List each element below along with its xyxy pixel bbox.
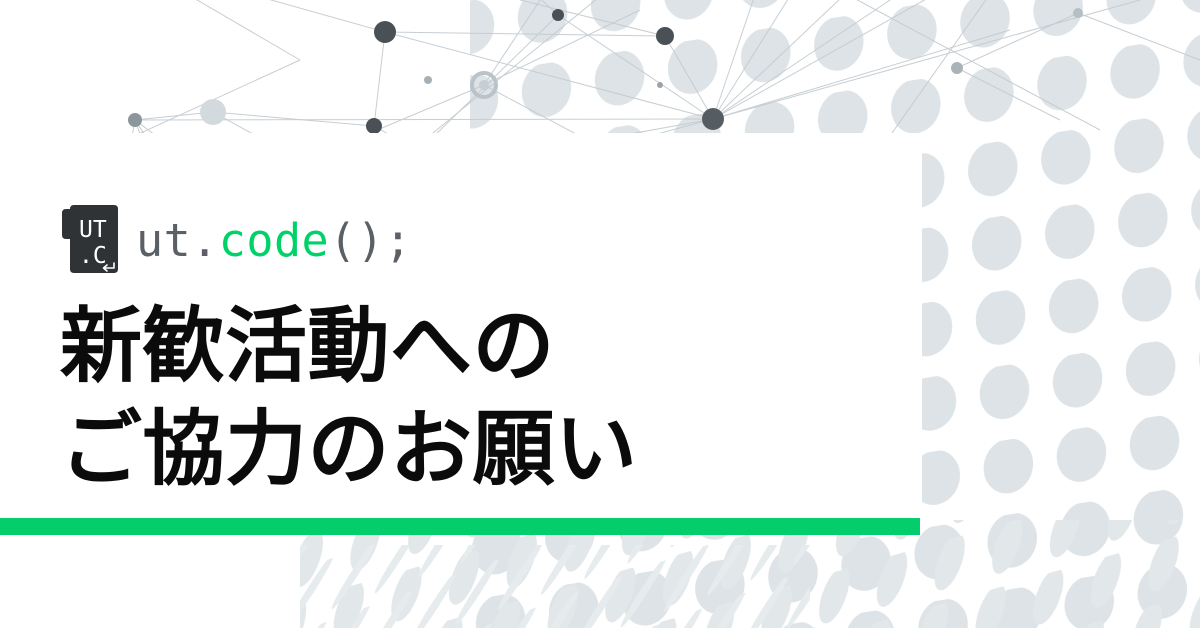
utcode-logo-mark-icon: UT .C — [62, 203, 124, 277]
brand-accent-rule — [0, 518, 920, 535]
wordmark-highlight: code — [219, 218, 329, 263]
brand-lockup: UT .C ut. code (); — [62, 203, 412, 277]
network-nodes — [128, 8, 1083, 134]
wordmark: ut. code (); — [136, 218, 412, 263]
wordmark-suffix: (); — [329, 218, 412, 263]
logo-letters-top: UT — [79, 217, 107, 243]
lower-left-wash — [0, 535, 300, 628]
page-title: 新歓活動への ご協力のお願い — [60, 296, 638, 501]
poster-canvas: UT .C ut. code (); 新歓活動への ご協力のお願い — [0, 0, 1200, 628]
wordmark-prefix: ut. — [136, 218, 219, 263]
logo-letters-bottom: .C — [79, 243, 107, 269]
dot-field-bottom — [230, 520, 1200, 628]
page-title-line-1: 新歓活動への — [60, 296, 638, 399]
page-title-line-2: ご協力のお願い — [60, 399, 638, 502]
